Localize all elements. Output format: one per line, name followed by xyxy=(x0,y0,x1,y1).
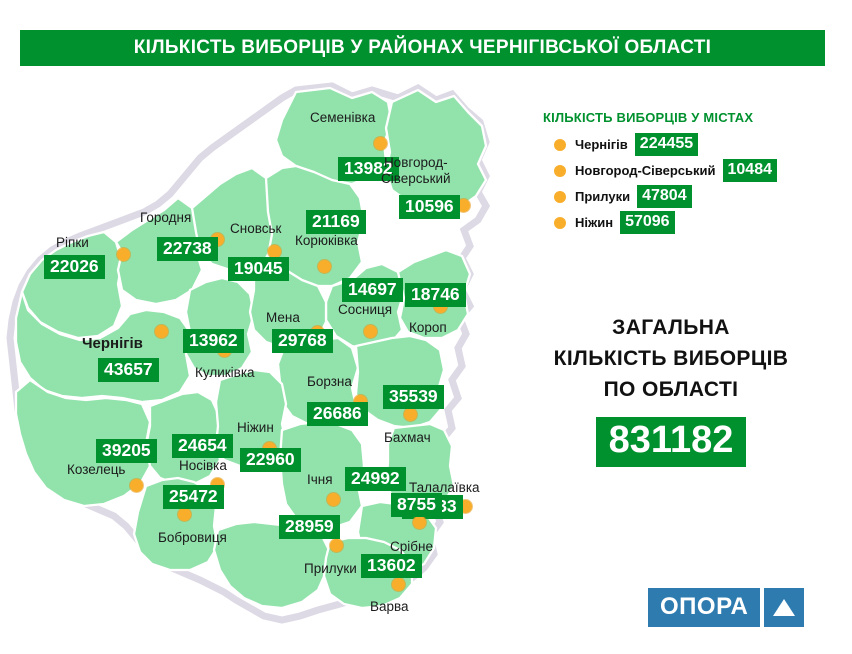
map-value-badge-horodnia: 22738 xyxy=(157,237,218,261)
map-district-name-kozelets: Козелець xyxy=(67,462,125,477)
map-district-name-kulykivka: Куликівка xyxy=(195,365,255,380)
legend-marker-dot xyxy=(554,165,566,177)
map-district-name-bakhmach: Бахмач xyxy=(384,430,431,445)
map-value-badge-nosivka: 24654 xyxy=(172,434,233,458)
map-marker-dot-ripky[interactable] xyxy=(117,248,130,261)
total-voters-value: 831182 xyxy=(596,417,747,467)
map-district-name-borzna: Борзна xyxy=(307,374,352,389)
legend-city-name: Прилуки xyxy=(575,189,630,204)
total-label-line3: ПО ОБЛАСТІ xyxy=(512,374,830,405)
map-district-name-novhorod: Новгород-Сіверський xyxy=(381,155,451,187)
legend-row: Чернігів224455 xyxy=(543,134,843,155)
opora-logo[interactable]: ОПОРА xyxy=(648,588,804,627)
map-value-badge-chernihiv: 43657 xyxy=(98,358,159,382)
city-legend: КІЛЬКІСТЬ ВИБОРЦІВ У МІСТАХ Чернігів2244… xyxy=(543,110,843,238)
map-value-badge-sribne: 8755 xyxy=(391,493,442,517)
legend-marker-dot xyxy=(554,217,566,229)
map-value-badge-kulykivka: 13962 xyxy=(183,329,244,353)
map-district-name-semenivka: Семенівка xyxy=(310,110,375,125)
legend-city-value: 224455 xyxy=(635,133,698,155)
map-marker-dot-sosnytsia[interactable] xyxy=(364,325,377,338)
map-marker-dot-chernihiv[interactable] xyxy=(155,325,168,338)
legend-city-value: 57096 xyxy=(620,211,675,233)
map-marker-dot-varva[interactable] xyxy=(392,578,405,591)
map-value-badge-pryluky: 28959 xyxy=(279,515,340,539)
legend-row: Новгород-Сіверський10484 xyxy=(543,160,843,181)
map-district-name-nosivka: Носівка xyxy=(179,458,227,473)
page-title: КІЛЬКІСТЬ ВИБОРЦІВ У РАЙОНАХ ЧЕРНІГІВСЬК… xyxy=(134,37,712,59)
map-value-badge-korop: 18746 xyxy=(405,283,466,307)
map-district-name-varva: Варва xyxy=(370,599,409,614)
total-voters-block: ЗАГАЛЬНА КІЛЬКІСТЬ ВИБОРЦІВ ПО ОБЛАСТІ 8… xyxy=(512,312,830,467)
legend-city-value: 10484 xyxy=(723,159,778,181)
map-value-badge-bakhmach: 35539 xyxy=(383,385,444,409)
total-label-line2: КІЛЬКІСТЬ ВИБОРЦІВ xyxy=(512,343,830,374)
map-value-badge-nizhyn: 22960 xyxy=(240,448,301,472)
legend-row: Прилуки47804 xyxy=(543,186,843,207)
map-district-name-koriukivka: Корюківка xyxy=(295,233,358,248)
map-district-name-sosnytsia: Сосниця xyxy=(338,302,392,317)
map-value-badge-ripky: 22026 xyxy=(44,255,105,279)
map-district-name-horodnia: Городня xyxy=(140,210,191,225)
triangle-icon xyxy=(764,588,804,627)
map-marker-dot-bobrovytsia[interactable] xyxy=(178,508,191,521)
triangle-glyph xyxy=(773,599,795,616)
map-marker-dot-semenivka[interactable] xyxy=(374,137,387,150)
legend-title: КІЛЬКІСТЬ ВИБОРЦІВ У МІСТАХ xyxy=(543,110,843,125)
map-marker-dot-sribne[interactable] xyxy=(413,516,426,529)
legend-marker-dot xyxy=(554,191,566,203)
map-value-badge-snovsk: 19045 xyxy=(228,257,289,281)
map-district-name-ichnia: Ічня xyxy=(307,472,333,487)
map-marker-dot-ichnia[interactable] xyxy=(327,493,340,506)
legend-city-value: 47804 xyxy=(637,185,692,207)
map-district-name-mena: Мена xyxy=(266,310,300,325)
total-label-line1: ЗАГАЛЬНА xyxy=(512,312,830,343)
map-marker-dot-bakhmach[interactable] xyxy=(404,408,417,421)
map-district-name-nizhyn: Ніжин xyxy=(237,420,274,435)
map-district-name-chernihiv: Чернігів xyxy=(82,335,143,352)
map-value-badge-sosnytsia: 14697 xyxy=(342,278,403,302)
map-value-badge-ichnia: 24992 xyxy=(345,467,406,491)
map-value-badge-koriukivka: 21169 xyxy=(306,210,366,234)
map-container: Семенівка13982Новгород-Сіверський10596Рі… xyxy=(0,80,520,640)
map-district-name-snovsk: Сновськ xyxy=(230,221,281,236)
map-district-name-sribne: Срібне xyxy=(390,539,433,554)
opora-wordmark: ОПОРА xyxy=(648,588,760,627)
legend-city-name: Чернігів xyxy=(575,137,628,152)
map-marker-dot-kozelets[interactable] xyxy=(130,479,143,492)
map-value-badge-bobrovytsia: 25472 xyxy=(163,485,224,509)
legend-row: Ніжин57096 xyxy=(543,212,843,233)
legend-marker-dot xyxy=(554,139,566,151)
legend-city-name: Ніжин xyxy=(575,215,613,230)
legend-city-name: Новгород-Сіверський xyxy=(575,163,716,178)
map-marker-dot-koriukivka[interactable] xyxy=(318,260,331,273)
page-title-banner: КІЛЬКІСТЬ ВИБОРЦІВ У РАЙОНАХ ЧЕРНІГІВСЬК… xyxy=(20,30,825,66)
legend-rows: Чернігів224455Новгород-Сіверський10484Пр… xyxy=(543,134,843,233)
map-marker-dot-pryluky[interactable] xyxy=(330,539,343,552)
map-district-name-pryluky: Прилуки xyxy=(304,561,357,576)
map-value-badge-mena: 29768 xyxy=(272,329,333,353)
map-district-name-bobrovytsia: Бобровиця xyxy=(158,530,227,545)
map-district-name-korop: Короп xyxy=(409,320,447,335)
map-district-name-ripky: Ріпки xyxy=(56,235,89,250)
map-value-badge-novhorod: 10596 xyxy=(399,195,460,219)
map-value-badge-borzna: 26686 xyxy=(307,402,368,426)
map-value-badge-varva: 13602 xyxy=(361,554,422,578)
map-value-badge-kozelets: 39205 xyxy=(96,439,157,463)
